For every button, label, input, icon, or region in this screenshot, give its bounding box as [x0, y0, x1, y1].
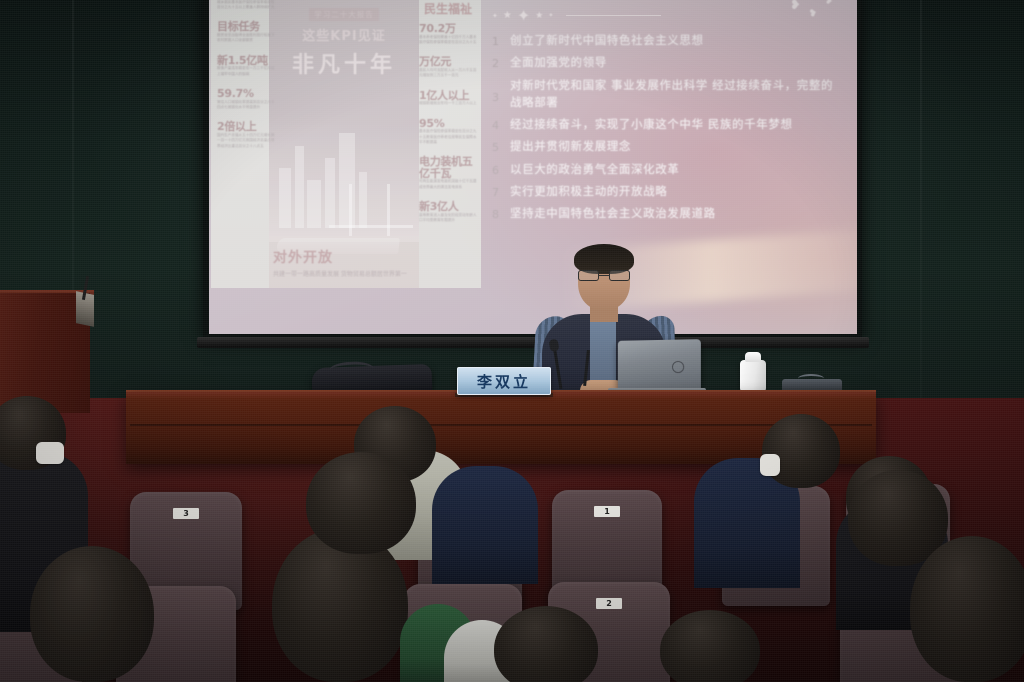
audience-member-head — [306, 452, 416, 554]
face-mask — [36, 442, 64, 464]
audience-member-head — [30, 546, 154, 682]
kpi-item: 70.2万 基本养老保险覆盖十亿四千万人基本医疗保险参保率稳定在百分之九十五 — [419, 23, 477, 45]
kpi-value: 2倍以上 — [217, 121, 275, 133]
kpi-item: 目标任务 脱贫攻坚战取得全面胜利现行标准下农村贫困人口全部脱贫 — [217, 21, 275, 43]
slide-item-number: 1 — [492, 32, 510, 48]
slide-item-text: 提出并贯彻新发展理念 — [510, 138, 631, 155]
eyeglasses-icon — [578, 270, 630, 281]
kpi-caption: 城乡居民基本医疗保险参保率稳定在百分之九十五以上覆盖人群持续扩大 — [217, 0, 275, 10]
star-icon: ★ — [503, 10, 512, 21]
slide-item-number: 8 — [492, 205, 510, 221]
slide-list-item: 8 坚持走中国特色社会主义政治发展道路 — [492, 205, 844, 222]
kpi-item: 万亿元 居民人均可支配收入从一万六千五百元增加到三万五千一百元 — [419, 56, 477, 78]
kpi-caption: 可再生能源发电装机突破十亿千瓦建成世界最大的清洁发电体系 — [419, 179, 477, 190]
slide-item-number: 6 — [492, 161, 510, 177]
slide-list-item: 4 经过接续奋斗，实现了小康这个中华 民族的千年梦想 — [492, 116, 844, 133]
kpi-item: 1亿人以上 城镇新增就业年均一千三百万人以上 — [419, 90, 477, 107]
dove-decoration: ❥ ❥ ❥ — [790, 0, 835, 13]
poster-section-title: 民生福祉 — [419, 0, 477, 17]
poster-footer: 对外开放 共建一带一路高质量发展 货物贸易总额居世界第一 — [273, 251, 415, 278]
wall-seam-2 — [920, 0, 922, 412]
star-icon: ✦ — [492, 12, 498, 20]
star-icon: ✦ — [548, 12, 553, 19]
slide-list-item: 6 以巨大的政治勇气全面深化改革 — [492, 161, 844, 178]
skyline-building — [307, 180, 321, 228]
audience-member-head — [660, 610, 760, 682]
audience-member-head — [762, 414, 840, 488]
slide-item-text: 对新时代党和国家 事业发展作出科学 经过接续奋斗，完整的战略部署 — [510, 77, 844, 112]
kpi-item: 59.7% 常住人口城镇化率提高到百分之六十四点七城镇化水平明显提升 — [217, 88, 275, 110]
slide-item-text: 实行更加积极主动的开放战略 — [510, 183, 667, 200]
mug-lid — [745, 352, 761, 362]
desk-panel-line — [130, 424, 872, 426]
kpi-value: 新1.5亿吨 — [217, 55, 275, 67]
kpi-caption: 居民人均可支配收入从一万六千五百元增加到三万五千一百元 — [419, 68, 477, 79]
water-mug — [740, 360, 766, 394]
seat-number: 2 — [596, 598, 622, 609]
laptop-logo-icon — [672, 361, 684, 373]
slide-item-text: 经过接续奋斗，实现了小康这个中华 民族的千年梦想 — [510, 116, 793, 133]
kpi-value: 电力装机五亿千瓦 — [419, 156, 477, 179]
slide-item-text: 全面加强党的领导 — [510, 54, 607, 71]
kpi-caption: 脱贫攻坚战取得全面胜利现行标准下农村贫困人口全部脱贫 — [217, 33, 275, 44]
poster-heading: 学习二十大报告 这些KPI见证 非凡十年 — [269, 2, 419, 79]
dove-icon: ❥ — [790, 0, 803, 13]
seat-number: 1 — [594, 506, 620, 517]
poster-footer-title: 对外开放 — [273, 251, 415, 266]
slide-item-number: 4 — [492, 116, 510, 132]
kpi-item: 电力装机五亿千瓦 可再生能源发电装机突破十亿千瓦建成世界最大的清洁发电体系 — [419, 156, 477, 190]
kpi-item: 95% 基本医疗保险参保率稳定在百分之九十五教育医疗养老住房等民生保障水平不断提… — [419, 118, 477, 146]
skyline-building — [279, 168, 291, 228]
kpi-value: 目标任务 — [217, 21, 275, 33]
kpi-value: 1亿人以上 — [419, 90, 477, 102]
slide-item-number: 7 — [492, 183, 510, 199]
slide-list-item: 3 对新时代党和国家 事业发展作出科学 经过接续奋斗，完整的战略部署 — [492, 77, 844, 112]
audience-member-body — [432, 466, 538, 584]
slide-list-item: 2 全面加强党的领导 — [492, 54, 844, 71]
horizontal-rule — [566, 15, 661, 17]
poster-right-stats: 民生福祉 70.2万 基本养老保险覆盖十亿四千万人基本医疗保险参保率稳定在百分之… — [419, 0, 477, 288]
bridge-graphic — [329, 180, 413, 236]
kpi-item: 新1.5亿吨 粮食产量连年稳定在一万三千亿斤以上端牢中国人的饭碗 — [217, 55, 275, 77]
kpi-value: 95% — [419, 118, 477, 130]
dove-icon: ❥ — [825, 0, 836, 8]
kpi-caption: 高等教育进入普及化阶段劳动年龄人口平均受教育年限提升 — [419, 213, 477, 224]
kpi-item: 2倍以上 国内生产总值从五十四万亿元增长到一百一十四万亿元我国经济总量占世界经济… — [217, 121, 275, 149]
slide-bullet-list: 1 创立了新时代中国特色社会主义思想 2 全面加强党的领导 3 对新时代党和国家… — [492, 32, 844, 227]
kpi-caption: 国内生产总值从五十四万亿元增长到一百一十四万亿元我国经济总量占世界经济比重达百分… — [217, 133, 275, 149]
poster-footer-caption: 共建一带一路高质量发展 货物贸易总额居世界第一 — [273, 269, 415, 278]
slide-list-item: 5 提出并贯彻新发展理念 — [492, 138, 844, 155]
speaker-shirt-front — [590, 318, 616, 384]
name-plate-text: 李双立 — [477, 371, 531, 392]
slide-item-number: 3 — [492, 77, 510, 104]
kpi-caption: 城镇新增就业年均一千三百万人以上 — [419, 101, 477, 106]
laptop — [618, 339, 701, 391]
lecture-hall-photo: 学习二十大报告 这些KPI见证 非凡十年 — [0, 0, 1024, 682]
poster-left-stats: 98.5% 城乡居民基本医疗保险参保率稳定在百分之九十五以上覆盖人群持续扩大 目… — [217, 0, 275, 288]
slide-list-item: 1 创立了新时代中国特色社会主义思想 — [492, 32, 844, 49]
kpi-value: 新3亿人 — [419, 201, 477, 213]
poster-center-panel: 学习二十大报告 这些KPI见证 非凡十年 — [269, 0, 419, 288]
slide-list-item: 7 实行更加积极主动的开放战略 — [492, 183, 844, 200]
seat-number: 3 — [173, 508, 199, 519]
star-decoration: ✦ ★ ✦ ★ ✦ — [492, 6, 661, 25]
infographic-poster: 学习二十大报告 这些KPI见证 非凡十年 — [211, 0, 481, 288]
name-plate: 李双立 — [457, 367, 551, 395]
star-icon: ✦ — [517, 6, 530, 25]
kpi-caption: 基本养老保险覆盖十亿四千万人基本医疗保险参保率稳定在百分之九十五 — [419, 35, 477, 46]
kpi-item: 新3亿人 高等教育进入普及化阶段劳动年龄人口平均受教育年限提升 — [419, 201, 477, 223]
kpi-caption: 基本医疗保险参保率稳定在百分之九十五教育医疗养老住房等民生保障水平不断提高 — [419, 129, 477, 145]
kpi-item: 98.5% 城乡居民基本医疗保险参保率稳定在百分之九十五以上覆盖人群持续扩大 — [217, 0, 275, 10]
kpi-caption: 粮食产量连年稳定在一万三千亿斤以上端牢中国人的饭碗 — [217, 66, 275, 77]
star-icon: ★ — [535, 11, 543, 21]
face-mask — [760, 454, 780, 476]
audience-member-head — [910, 536, 1024, 682]
slide-item-text: 创立了新时代中国特色社会主义思想 — [510, 32, 704, 49]
slide-item-number: 2 — [492, 54, 510, 70]
poster-main-title: 非凡十年 — [269, 47, 419, 79]
slide-item-text: 以巨大的政治勇气全面深化改革 — [510, 161, 679, 178]
skyline-building — [295, 146, 304, 228]
kpi-value: 70.2万 — [419, 23, 477, 35]
kpi-caption: 常住人口城镇化率提高到百分之六十四点七城镇化水平明显提升 — [217, 100, 275, 111]
kpi-value: 59.7% — [217, 88, 275, 100]
kpi-value: 万亿元 — [419, 56, 477, 68]
poster-kicker: 学习二十大报告 — [309, 8, 379, 21]
poster-subtitle: 这些KPI见证 — [269, 25, 419, 44]
slide-item-text: 坚持走中国特色社会主义政治发展道路 — [510, 205, 716, 222]
audience-member-head — [494, 606, 598, 682]
slide-item-number: 5 — [492, 138, 510, 154]
section-title-text: 民生福祉 — [424, 2, 472, 16]
dove-icon: ❥ — [808, 7, 821, 20]
